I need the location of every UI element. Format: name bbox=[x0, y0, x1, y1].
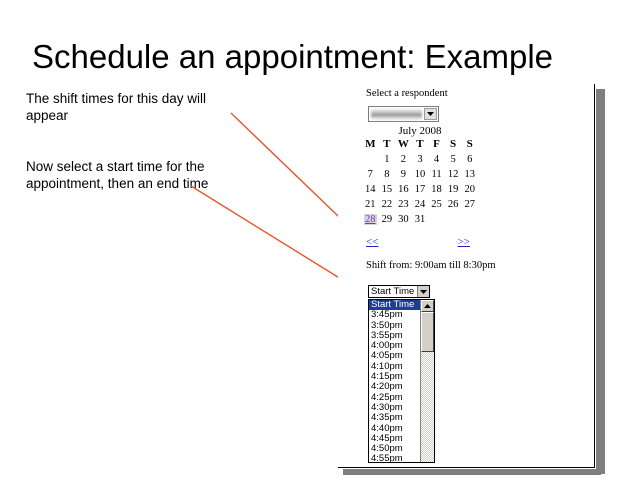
start-time-listbox[interactable]: Start Time3:45pm3:50pm3:55pm4:00pm4:05pm… bbox=[368, 299, 435, 463]
calendar-day-link[interactable]: 10 bbox=[415, 169, 426, 180]
calendar-day-cell[interactable]: 6 bbox=[461, 152, 478, 167]
listbox-scrollbar[interactable] bbox=[420, 300, 434, 462]
calendar-day-cell[interactable]: 8 bbox=[379, 167, 396, 182]
calendar-day-link[interactable]: 3 bbox=[417, 154, 422, 165]
calendar-day-link[interactable]: 5 bbox=[450, 154, 455, 165]
calendar-week-row: 28293031 bbox=[362, 212, 478, 227]
calendar-empty-cell bbox=[428, 212, 445, 227]
calendar-day-link[interactable]: 8 bbox=[384, 169, 389, 180]
weekday-header: S bbox=[445, 138, 462, 152]
calendar-empty-cell bbox=[362, 152, 379, 167]
calendar-day-cell[interactable]: 22 bbox=[379, 197, 396, 212]
calendar-day-cell[interactable]: 21 bbox=[362, 197, 379, 212]
calendar-day-cell[interactable]: 7 bbox=[362, 167, 379, 182]
start-time-options-list[interactable]: Start Time3:45pm3:50pm3:55pm4:00pm4:05pm… bbox=[369, 300, 420, 462]
calendar-day-link[interactable]: 23 bbox=[398, 199, 409, 210]
calendar-empty-cell bbox=[461, 212, 478, 227]
panel-shadow-bottom bbox=[343, 469, 601, 475]
calendar-day-cell[interactable]: 2 bbox=[395, 152, 412, 167]
calendar-day-link[interactable]: 20 bbox=[464, 184, 475, 195]
calendar-week-row: 21222324252627 bbox=[362, 197, 478, 212]
calendar-day-cell[interactable]: 30 bbox=[395, 212, 412, 227]
calendar-day-link[interactable]: 22 bbox=[382, 199, 393, 210]
calendar-day-cell[interactable]: 20 bbox=[461, 182, 478, 197]
calendar-day-link[interactable]: 27 bbox=[464, 199, 475, 210]
panel-shadow-right bbox=[596, 89, 605, 474]
calendar-day-link[interactable]: 25 bbox=[431, 199, 442, 210]
calendar-day-cell[interactable]: 19 bbox=[445, 182, 462, 197]
weekday-header: T bbox=[379, 138, 396, 152]
calendar-day-link[interactable]: 14 bbox=[365, 184, 376, 195]
weekday-header: F bbox=[428, 138, 445, 152]
calendar-day-cell[interactable]: 24 bbox=[412, 197, 429, 212]
weekday-header: T bbox=[412, 138, 429, 152]
callout-select-times: Now select a start time for the appointm… bbox=[26, 158, 241, 192]
calendar-table: M T W T F S S 12345678910111213141516171… bbox=[362, 138, 478, 227]
calendar-day-link[interactable]: 26 bbox=[448, 199, 459, 210]
start-time-option[interactable]: 4:55pm bbox=[369, 454, 420, 462]
calendar-day-cell[interactable]: 28 bbox=[362, 212, 379, 227]
calendar-day-link[interactable]: 24 bbox=[415, 199, 426, 210]
calendar-day-cell[interactable]: 5 bbox=[445, 152, 462, 167]
calendar-day-cell[interactable]: 23 bbox=[395, 197, 412, 212]
calendar-selected-day-link[interactable]: 28 bbox=[364, 214, 377, 225]
calendar-day-cell[interactable]: 18 bbox=[428, 182, 445, 197]
respondent-label: Select a respondent bbox=[366, 88, 448, 99]
start-time-combo[interactable]: Start Time bbox=[368, 285, 430, 298]
calendar-widget[interactable]: July 2008 M T W T F S S 1234567891011121… bbox=[362, 125, 478, 227]
calendar-day-link[interactable]: 2 bbox=[401, 154, 406, 165]
calendar-week-row: 14151617181920 bbox=[362, 182, 478, 197]
calendar-day-link[interactable]: 19 bbox=[448, 184, 459, 195]
calendar-day-cell[interactable]: 11 bbox=[428, 167, 445, 182]
calendar-day-cell[interactable]: 10 bbox=[412, 167, 429, 182]
callout-shift-times: The shift times for this day will appear bbox=[26, 90, 241, 124]
weekday-header: M bbox=[362, 138, 379, 152]
calendar-body: 1234567891011121314151617181920212223242… bbox=[362, 152, 478, 227]
calendar-day-link[interactable]: 17 bbox=[415, 184, 426, 195]
calendar-day-cell[interactable]: 13 bbox=[461, 167, 478, 182]
calendar-day-link[interactable]: 12 bbox=[448, 169, 459, 180]
chevron-down-icon[interactable] bbox=[417, 286, 429, 297]
calendar-prev-month-link[interactable]: << bbox=[366, 236, 378, 248]
calendar-day-cell[interactable]: 26 bbox=[445, 197, 462, 212]
calendar-day-link[interactable]: 29 bbox=[382, 214, 393, 225]
calendar-day-cell[interactable]: 29 bbox=[379, 212, 396, 227]
weekday-header: S bbox=[461, 138, 478, 152]
calendar-day-cell[interactable]: 1 bbox=[379, 152, 396, 167]
calendar-day-cell[interactable]: 9 bbox=[395, 167, 412, 182]
calendar-day-link[interactable]: 7 bbox=[368, 169, 373, 180]
calendar-day-cell[interactable]: 17 bbox=[412, 182, 429, 197]
calendar-day-link[interactable]: 1 bbox=[384, 154, 389, 165]
chevron-down-icon[interactable] bbox=[424, 108, 437, 120]
calendar-day-cell[interactable]: 4 bbox=[428, 152, 445, 167]
calendar-day-link[interactable]: 18 bbox=[431, 184, 442, 195]
weekday-header: W bbox=[395, 138, 412, 152]
start-time-combo-value: Start Time bbox=[369, 286, 417, 297]
scrollbar-thumb[interactable] bbox=[421, 312, 434, 352]
arrow-to-start-time bbox=[191, 186, 362, 292]
calendar-caption: July 2008 bbox=[362, 125, 478, 138]
calendar-day-link[interactable]: 15 bbox=[382, 184, 393, 195]
calendar-day-link[interactable]: 31 bbox=[415, 214, 426, 225]
calendar-day-link[interactable]: 4 bbox=[434, 154, 439, 165]
scroll-up-arrow-icon[interactable] bbox=[421, 300, 434, 312]
calendar-day-cell[interactable]: 3 bbox=[412, 152, 429, 167]
page-title: Schedule an appointment: Example bbox=[32, 38, 612, 76]
calendar-day-cell[interactable]: 25 bbox=[428, 197, 445, 212]
calendar-day-link[interactable]: 6 bbox=[467, 154, 472, 165]
calendar-day-cell[interactable]: 27 bbox=[461, 197, 478, 212]
calendar-day-cell[interactable]: 31 bbox=[412, 212, 429, 227]
calendar-next-month-link[interactable]: >> bbox=[458, 236, 470, 248]
calendar-day-cell[interactable]: 16 bbox=[395, 182, 412, 197]
calendar-week-row: 123456 bbox=[362, 152, 478, 167]
calendar-day-link[interactable]: 9 bbox=[401, 169, 406, 180]
scrollbar-track[interactable] bbox=[421, 352, 434, 462]
calendar-empty-cell bbox=[445, 212, 462, 227]
respondent-select[interactable] bbox=[368, 106, 439, 122]
calendar-day-link[interactable]: 30 bbox=[398, 214, 409, 225]
respondent-value-redacted bbox=[371, 109, 422, 120]
calendar-day-link[interactable]: 13 bbox=[464, 169, 475, 180]
calendar-week-row: 78910111213 bbox=[362, 167, 478, 182]
shift-hours-text: Shift from: 9:00am till 8:30pm bbox=[366, 260, 496, 271]
calendar-day-cell[interactable]: 15 bbox=[379, 182, 396, 197]
calendar-day-link[interactable]: 21 bbox=[365, 199, 376, 210]
calendar-day-cell[interactable]: 14 bbox=[362, 182, 379, 197]
calendar-day-cell[interactable]: 12 bbox=[445, 167, 462, 182]
calendar-weekday-row: M T W T F S S bbox=[362, 138, 478, 152]
calendar-day-link[interactable]: 11 bbox=[431, 169, 441, 180]
calendar-nav: << >> bbox=[366, 236, 470, 248]
calendar-day-link[interactable]: 16 bbox=[398, 184, 409, 195]
